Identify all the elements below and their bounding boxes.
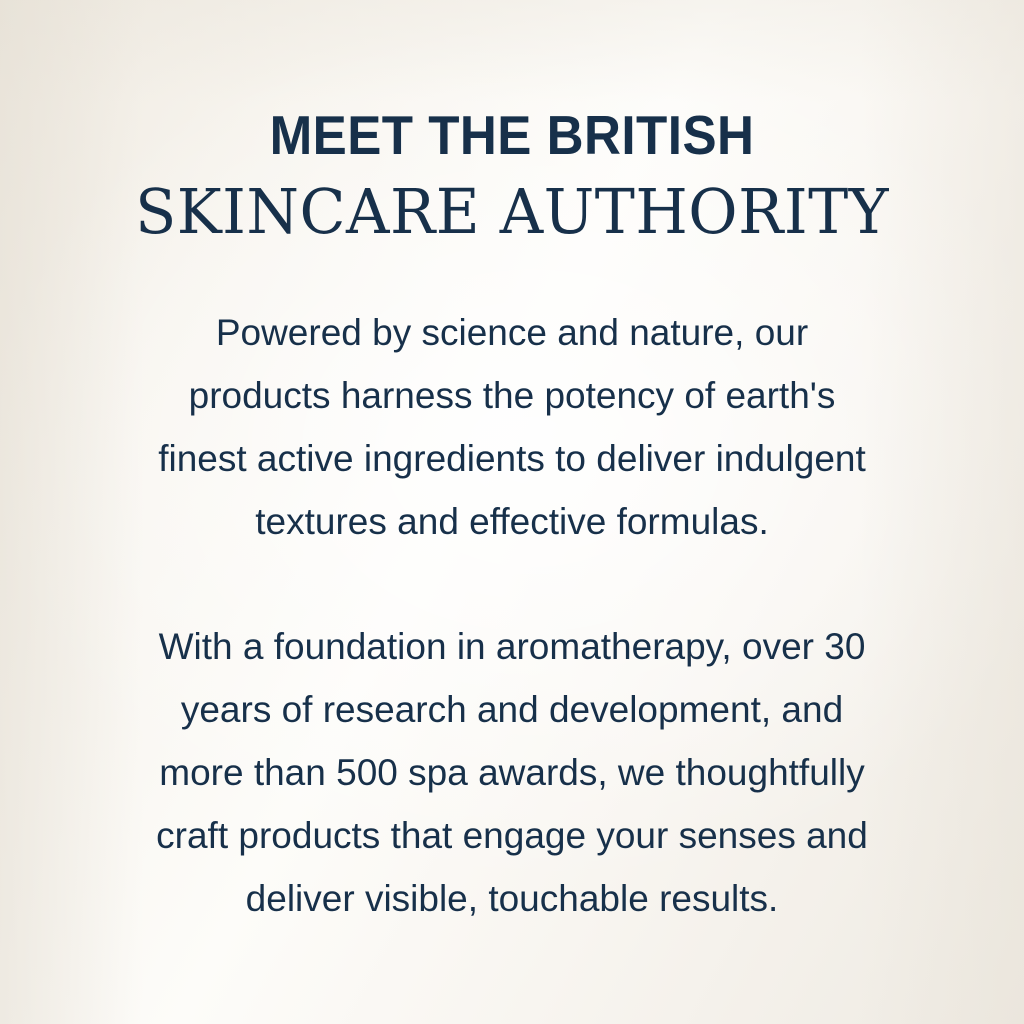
paragraph-two: With a foundation in aromatherapy, over … <box>72 615 952 930</box>
brand-story-card: MEET THE BRITISH SKINCARE AUTHORITY Powe… <box>0 0 1024 1024</box>
headline-line-secondary: SKINCARE AUTHORITY <box>15 181 1008 243</box>
body-line: Powered by science and nature, our <box>72 301 952 364</box>
body-line: finest active ingredients to deliver ind… <box>72 427 952 490</box>
body-line: years of research and development, and <box>72 678 952 741</box>
body-line: deliver visible, touchable results. <box>72 867 952 930</box>
content-container: MEET THE BRITISH SKINCARE AUTHORITY Powe… <box>0 0 1024 1024</box>
paragraph-one: Powered by science and nature, our produ… <box>72 301 952 553</box>
body-line: With a foundation in aromatherapy, over … <box>72 615 952 678</box>
headline-block: MEET THE BRITISH SKINCARE AUTHORITY <box>0 108 1024 243</box>
headline-line-primary: MEET THE BRITISH <box>36 108 988 163</box>
body-line: craft products that engage your senses a… <box>72 804 952 867</box>
body-line: textures and effective formulas. <box>72 490 952 553</box>
body-line: products harness the potency of earth's <box>72 364 952 427</box>
body-line: more than 500 spa awards, we thoughtfull… <box>72 741 952 804</box>
